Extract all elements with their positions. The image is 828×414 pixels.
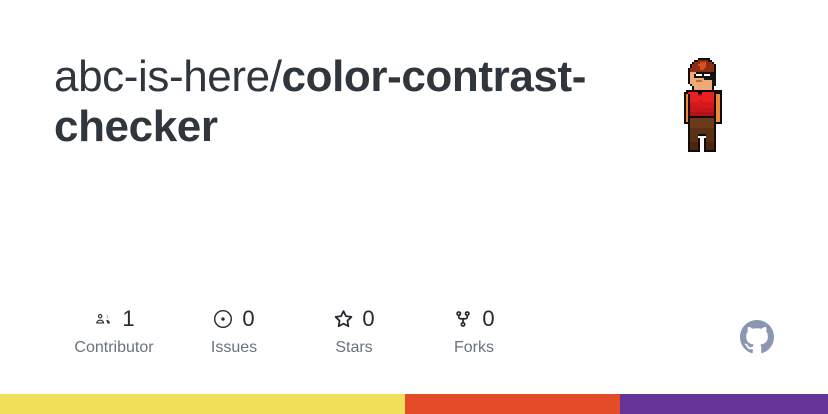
language-segment-orange	[405, 394, 620, 414]
page-title: abc-is-here/color-contrast-checker	[54, 52, 654, 152]
star-icon	[333, 309, 353, 329]
stat-issues: 0 Issues	[174, 306, 294, 358]
stat-label: Stars	[335, 338, 372, 358]
stat-value: 0	[242, 306, 254, 332]
stat-value: 1	[122, 306, 134, 332]
github-mark-icon	[740, 320, 774, 354]
repo-forked-icon	[453, 309, 473, 329]
stat-top: 0	[453, 306, 494, 332]
avatar	[676, 56, 732, 192]
stat-label: Forks	[454, 338, 494, 358]
repo-title-block: abc-is-here/color-contrast-checker	[54, 52, 654, 152]
stat-label: Issues	[211, 338, 257, 358]
stat-top: 0	[333, 306, 374, 332]
language-segment-purple	[620, 394, 828, 414]
stat-forks: 0 Forks	[414, 306, 534, 358]
language-segment-yellow	[0, 394, 405, 414]
stat-stars: 0 Stars	[294, 306, 414, 358]
stat-value: 0	[362, 306, 374, 332]
stat-label: Contributor	[74, 338, 153, 358]
github-repo-social-card: abc-is-here/color-contrast-checker	[0, 0, 828, 414]
stat-value: 0	[482, 306, 494, 332]
people-icon	[93, 309, 113, 329]
repo-owner: abc-is-here	[54, 52, 270, 101]
stat-top: 0	[213, 306, 254, 332]
issue-opened-icon	[213, 309, 233, 329]
stat-contributors: 1 Contributor	[54, 306, 174, 358]
pixel-art-avatar	[676, 56, 732, 192]
repo-separator: /	[270, 52, 282, 101]
language-bar	[0, 394, 828, 414]
stat-top: 1	[93, 306, 134, 332]
repo-stats: 1 Contributor 0 Issues	[54, 306, 534, 358]
